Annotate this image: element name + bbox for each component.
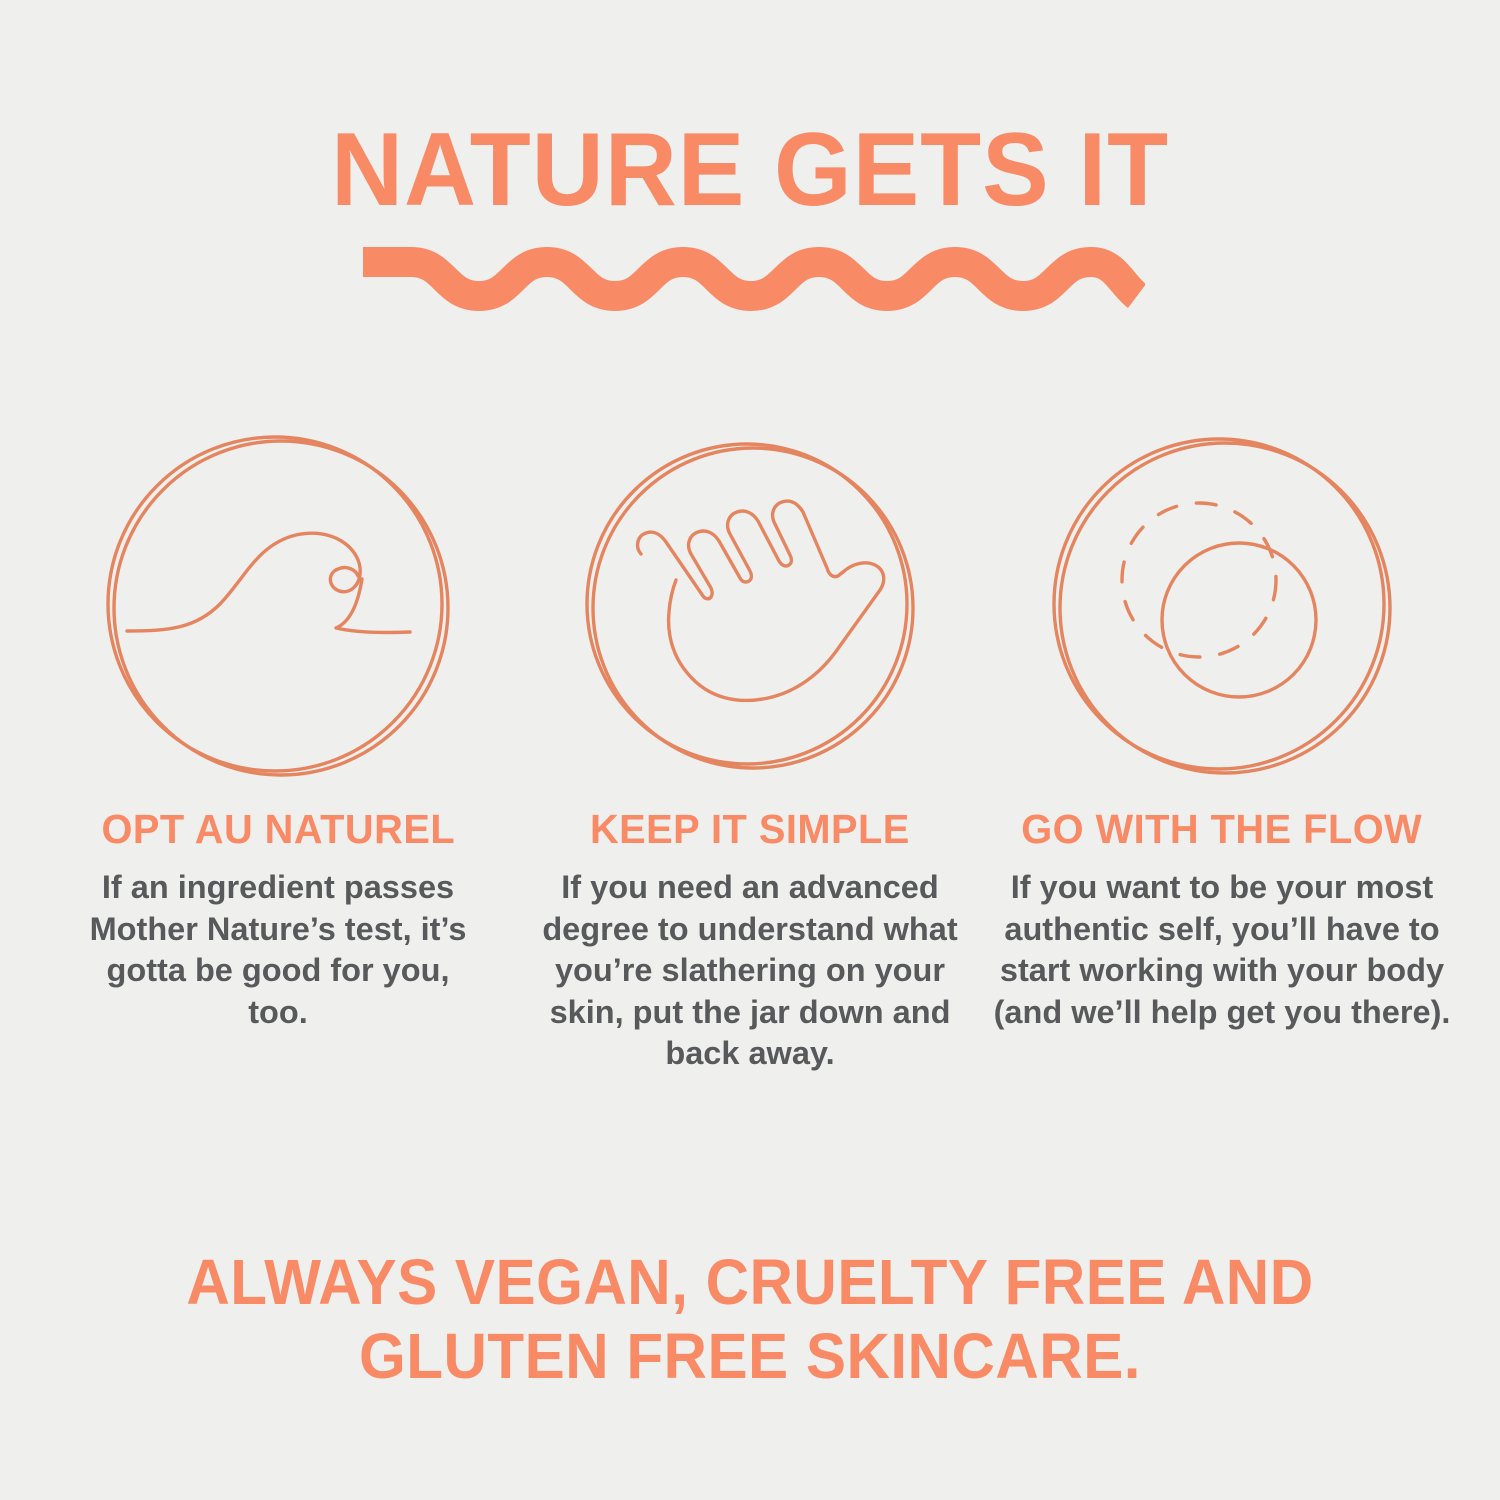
- feature-body: If you want to be your most authentic se…: [992, 867, 1452, 1033]
- overlapping-circles-flow-icon: [1044, 428, 1400, 784]
- feature-column-opt-au-naturel: OPT AU NATUREL If an ingredient passes M…: [48, 428, 508, 1075]
- footer-tagline: ALWAYS VEGAN, CRUELTY FREE AND GLUTEN FR…: [111, 1245, 1389, 1393]
- feature-title: GO WITH THE FLOW: [1021, 806, 1422, 853]
- wavy-line-divider: [0, 240, 1500, 318]
- promo-graphic: NATURE GETS IT: [0, 0, 1500, 1500]
- feature-body: If you need an advanced degree to unders…: [520, 867, 980, 1075]
- header-section: NATURE GETS IT: [0, 118, 1500, 318]
- feature-body: If an ingredient passes Mother Nature’s …: [73, 867, 483, 1033]
- feature-title: OPT AU NATUREL: [101, 806, 455, 853]
- footer-section: ALWAYS VEGAN, CRUELTY FREE AND GLUTEN FR…: [0, 1245, 1500, 1393]
- page-title: NATURE GETS IT: [30, 118, 1470, 222]
- feature-title: KEEP IT SIMPLE: [590, 806, 910, 853]
- ocean-wave-circle-icon: [100, 428, 456, 784]
- shaka-hand-circle-icon: [572, 428, 928, 784]
- feature-column-go-with-the-flow: GO WITH THE FLOW If you want to be your …: [992, 428, 1452, 1075]
- feature-column-keep-it-simple: KEEP IT SIMPLE If you need an advanced d…: [520, 428, 980, 1075]
- feature-columns: OPT AU NATUREL If an ingredient passes M…: [0, 428, 1500, 1075]
